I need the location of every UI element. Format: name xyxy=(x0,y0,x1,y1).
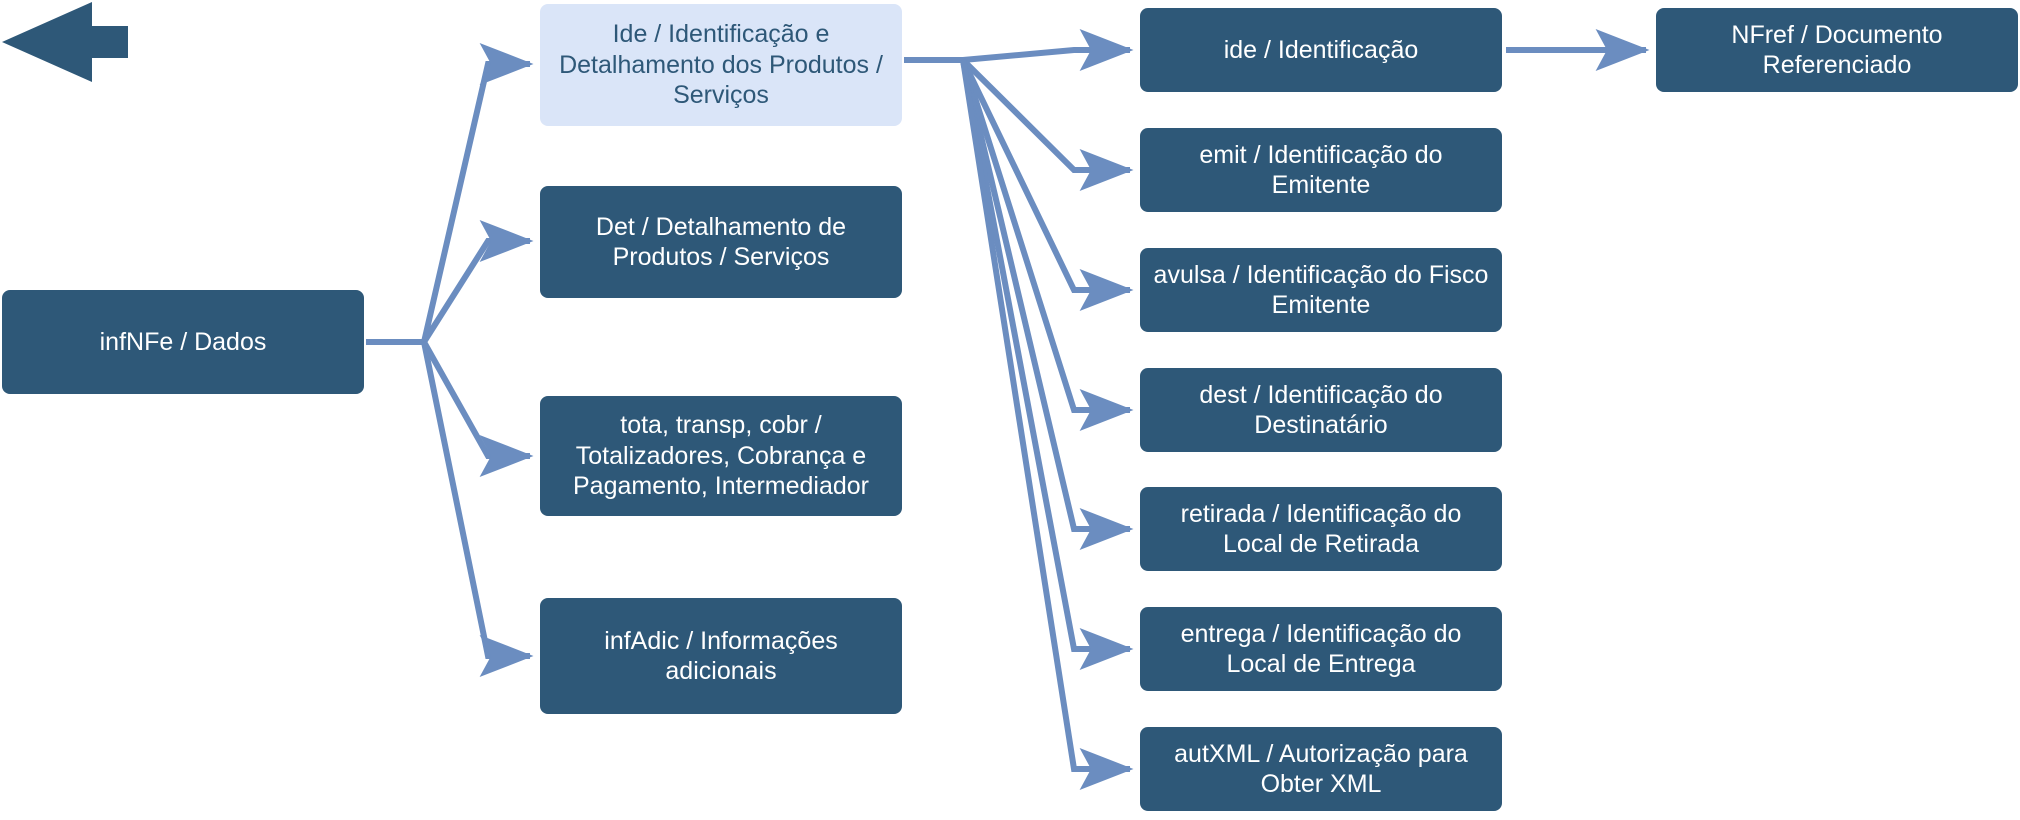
node-avulsa[interactable]: avulsa / Identificação do Fisco Emitente xyxy=(1140,248,1502,332)
node-tota[interactable]: tota, transp, cobr / Totalizadores, Cobr… xyxy=(540,396,902,516)
connector-idegroup-to-avulsa xyxy=(963,60,1130,290)
connector-idegroup-to-retirada xyxy=(963,60,1130,529)
node-infadic[interactable]: infAdic / Informações adicionais xyxy=(540,598,902,714)
node-ide-group-label: Ide / Identificação e Detalhamento dos P… xyxy=(552,19,890,111)
node-emit-label: emit / Identificação do Emitente xyxy=(1152,140,1490,201)
node-ide[interactable]: ide / Identificação xyxy=(1140,8,1502,92)
connector-root-to-infadic xyxy=(424,342,530,656)
node-retirada-label: retirada / Identificação do Local de Ret… xyxy=(1152,499,1490,560)
node-infnfe[interactable]: infNFe / Dados xyxy=(2,290,364,394)
node-infnfe-label: infNFe / Dados xyxy=(14,327,352,358)
connector-root-to-det xyxy=(424,241,530,342)
connector-idegroup-to-autxml xyxy=(963,60,1130,769)
connector-layer xyxy=(0,0,2020,820)
connector-root-to-ide-group xyxy=(424,64,530,342)
node-ide-label: ide / Identificação xyxy=(1152,35,1490,66)
node-tota-label: tota, transp, cobr / Totalizadores, Cobr… xyxy=(552,410,890,502)
node-dest-label: dest / Identificação do Destinatário xyxy=(1152,380,1490,441)
node-entrega[interactable]: entrega / Identificação do Local de Entr… xyxy=(1140,607,1502,691)
node-ide-group[interactable]: Ide / Identificação e Detalhamento dos P… xyxy=(540,4,902,126)
back-arrow-icon[interactable] xyxy=(2,2,128,82)
connector-idegroup-to-emit xyxy=(963,60,1130,170)
connector-idegroup-to-dest xyxy=(963,60,1130,410)
diagram-canvas: infNFe / Dados Ide / Identificação e Det… xyxy=(0,0,2020,820)
node-nfref[interactable]: NFref / Documento Referenciado xyxy=(1656,8,2018,92)
node-entrega-label: entrega / Identificação do Local de Entr… xyxy=(1152,619,1490,680)
node-det[interactable]: Det / Detalhamento de Produtos / Serviço… xyxy=(540,186,902,298)
node-det-label: Det / Detalhamento de Produtos / Serviço… xyxy=(552,212,890,273)
node-emit[interactable]: emit / Identificação do Emitente xyxy=(1140,128,1502,212)
connector-idegroup-to-ide xyxy=(963,50,1130,60)
node-autxml[interactable]: autXML / Autorização para Obter XML xyxy=(1140,727,1502,811)
node-autxml-label: autXML / Autorização para Obter XML xyxy=(1152,739,1490,800)
node-avulsa-label: avulsa / Identificação do Fisco Emitente xyxy=(1152,260,1490,321)
node-retirada[interactable]: retirada / Identificação do Local de Ret… xyxy=(1140,487,1502,571)
node-infadic-label: infAdic / Informações adicionais xyxy=(552,626,890,687)
connector-root-to-tota xyxy=(424,342,530,456)
node-dest[interactable]: dest / Identificação do Destinatário xyxy=(1140,368,1502,452)
connector-idegroup-to-entrega xyxy=(963,60,1130,649)
node-nfref-label: NFref / Documento Referenciado xyxy=(1668,20,2006,81)
